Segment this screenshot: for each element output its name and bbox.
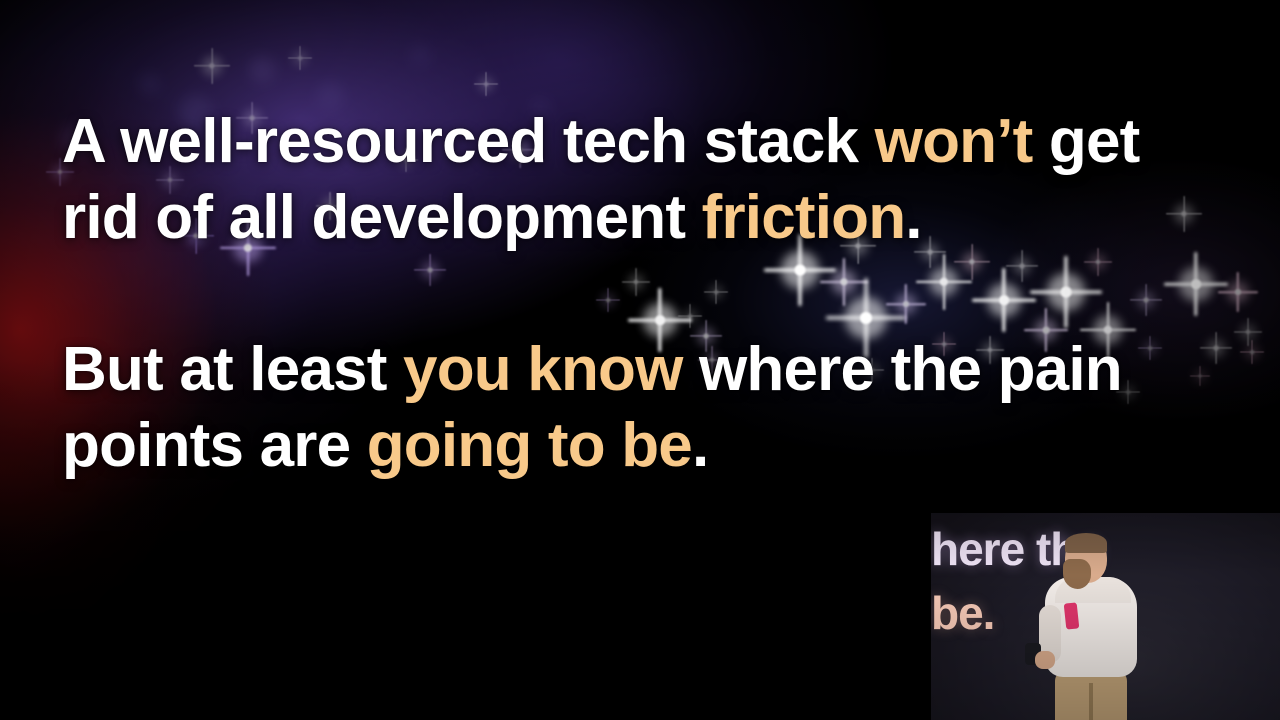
caption-line-1-run-3: friction (702, 183, 906, 252)
sparkle-core (1250, 350, 1254, 354)
sparkle-glow (203, 57, 222, 76)
sparkle-ray (1195, 252, 1198, 316)
bokeh-dot (409, 45, 431, 67)
caption-line-2-run-4: . (692, 411, 708, 480)
sparkle-ray (288, 58, 312, 59)
video-frame: A well-resourced tech stack won’t get ri… (0, 0, 1280, 720)
sparkle-star-icon (1200, 332, 1232, 364)
sparkle-glow (294, 52, 307, 65)
sparkle-core (209, 63, 214, 68)
bokeh-dot (140, 74, 160, 94)
sparkle-glow (1179, 267, 1213, 301)
sparkle-glow (1241, 325, 1256, 340)
presenter-beard (1063, 559, 1091, 589)
bokeh-dot (249, 57, 275, 83)
sparkle-glow (1228, 282, 1249, 303)
sparkle-star-icon (288, 46, 312, 70)
caption-line-2-run-1: you know (403, 335, 683, 404)
sparkle-ray (1234, 331, 1262, 332)
sparkle-core (1191, 279, 1201, 289)
sparkle-ray (59, 158, 60, 186)
sparkle-ray (1200, 347, 1232, 348)
caption-paragraph-1: A well-resourced tech stack won’t get ri… (62, 104, 1182, 256)
sparkle-glow (480, 78, 493, 91)
caption-line-2-run-3: going to be (367, 411, 692, 480)
sparkle-star-icon (1190, 366, 1210, 386)
sparkle-core (484, 82, 488, 86)
sparkle-star-icon (474, 72, 498, 96)
sparkle-star-icon (1218, 272, 1258, 312)
caption-line-1-run-1: won’t (875, 107, 1033, 176)
caption-line-2-run-0: But at least (62, 335, 403, 404)
sparkle-ray (1218, 291, 1258, 293)
sparkle-glow (1208, 340, 1225, 357)
caption-line-1-run-0: A well-resourced tech stack (62, 107, 875, 176)
sparkle-ray (1183, 196, 1184, 232)
presenter-hair (1065, 533, 1107, 553)
sparkle-ray (1252, 340, 1253, 364)
sparkle-core (1246, 330, 1250, 334)
sparkle-core (1199, 375, 1202, 378)
sparkle-star-icon (1234, 318, 1262, 346)
sparkle-ray (474, 84, 498, 85)
sparkle-ray (211, 48, 212, 84)
sparkle-core (1214, 346, 1219, 351)
caption-paragraph-gap (62, 256, 1182, 332)
caption-paragraph-2: But at least you know where the pain poi… (62, 332, 1182, 484)
sparkle-ray (300, 46, 301, 70)
sparkle-glow (1195, 371, 1206, 382)
caption-overlay: A well-resourced tech stack won’t get ri… (62, 104, 1182, 484)
sparkle-core (1235, 289, 1241, 295)
sparkle-ray (486, 72, 487, 96)
sparkle-star-icon (194, 48, 230, 84)
presenter-hand (1035, 651, 1055, 669)
sparkle-ray (1190, 376, 1210, 377)
sparkle-core (298, 56, 302, 60)
sparkle-core (1181, 211, 1186, 216)
sparkle-ray (194, 65, 230, 66)
sparkle-ray (1237, 272, 1239, 312)
sparkle-glow (1246, 346, 1259, 359)
presenter-shirt-logo (1064, 602, 1080, 629)
caption-line-1-run-4: . (905, 183, 921, 252)
sparkle-ray (1215, 332, 1216, 364)
speaker-video-inset[interactable]: here the be. (931, 513, 1280, 720)
presenter-figure (1041, 533, 1171, 720)
sparkle-ray (1240, 352, 1264, 353)
sparkle-star-icon (1240, 340, 1264, 364)
sparkle-ray (1200, 366, 1201, 386)
sparkle-ray (1247, 318, 1248, 346)
presenter-leg-seam (1089, 683, 1093, 720)
